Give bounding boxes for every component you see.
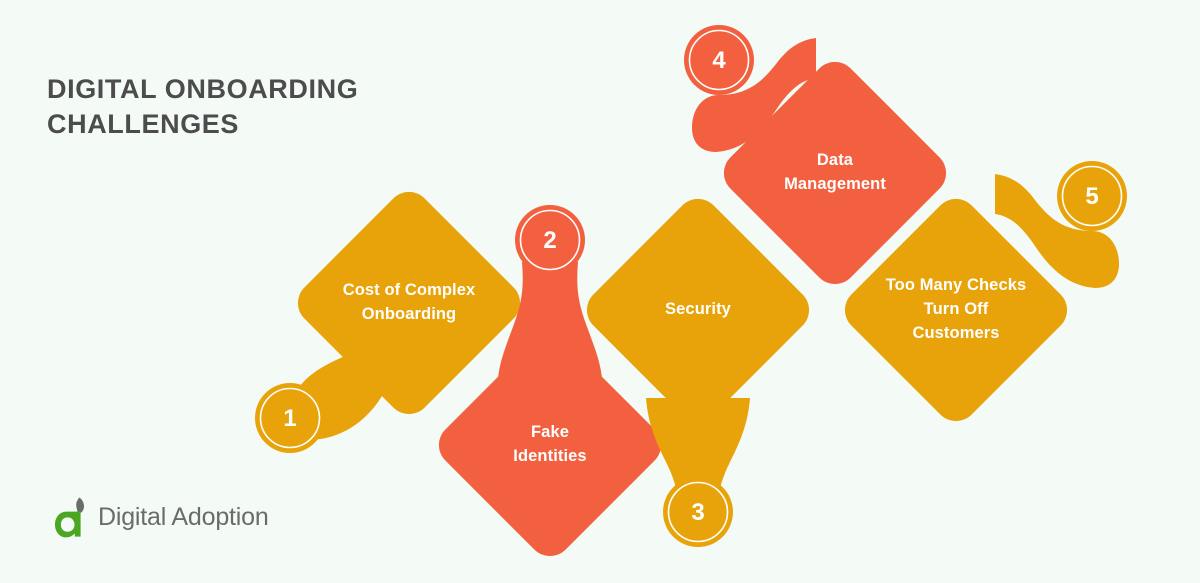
node-3-badge-circle [663, 477, 733, 547]
infographic-canvas: DIGITAL ONBOARDING CHALLENGES [0, 0, 1200, 583]
brand-logo-text: Digital Adoption [98, 503, 269, 532]
node-2-badge-circle [515, 205, 585, 275]
node-1-badge-circle [255, 383, 325, 453]
digital-adoption-logo-mark-icon [55, 495, 91, 539]
node-4-badge-circle [684, 25, 754, 95]
node-5-badge-circle [1057, 161, 1127, 231]
brand-logo: Digital Adoption [55, 495, 269, 539]
